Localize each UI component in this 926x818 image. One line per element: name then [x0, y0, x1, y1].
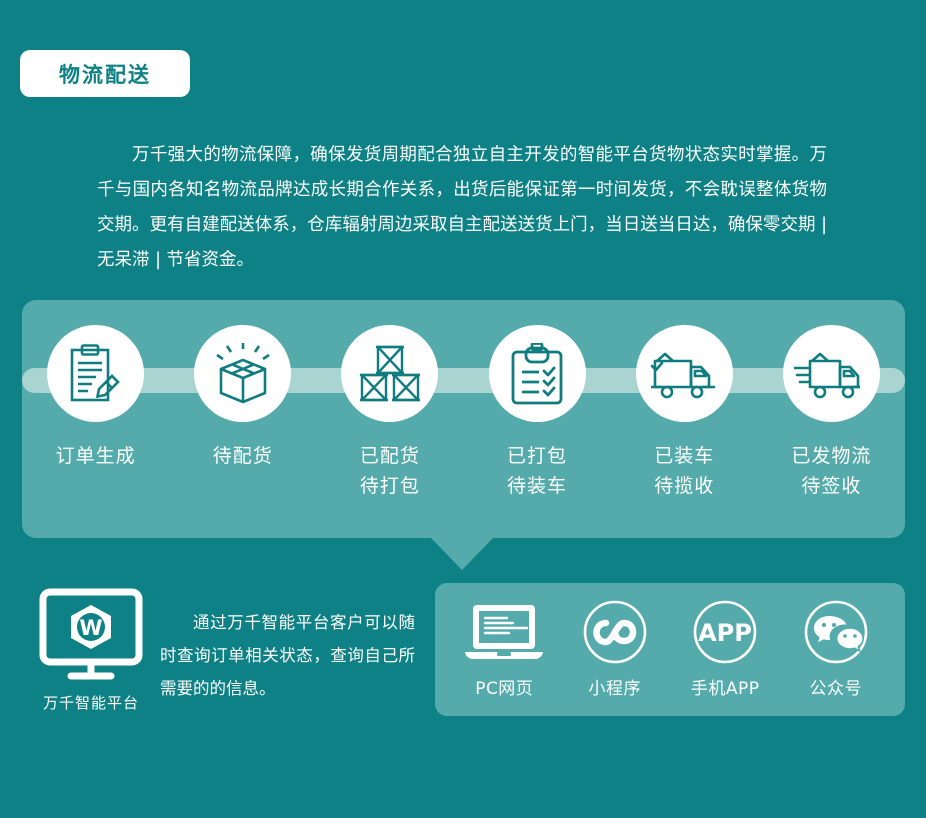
platform-label: 万千智能平台 [43, 692, 139, 713]
step-icon-circle [489, 325, 586, 422]
step-loaded-awaiting-pickup[interactable]: 已装车 待揽收 [617, 325, 752, 501]
step-shipped-awaiting-signature[interactable]: 已发物流 待签收 [764, 325, 899, 501]
channel-label: 公众号 [810, 674, 863, 699]
channel-mobile-app[interactable]: APP 手机APP [675, 600, 775, 699]
channel-miniprogram[interactable]: 小程序 [565, 600, 665, 699]
stacked-crates-icon [357, 344, 423, 404]
step-packed-awaiting-loading[interactable]: 已打包 待装车 [470, 325, 605, 501]
step-label: 待配货 [213, 441, 273, 471]
app-circle-icon: APP [692, 600, 758, 664]
intro-paragraph: 万千强大的物流保障，确保发货周期配合独立自主开发的智能平台货物状态实时掌握。万千… [97, 138, 827, 278]
wechat-icon [803, 600, 869, 664]
step-label: 已装车 待揽收 [654, 441, 714, 501]
step-icon-circle [194, 325, 291, 422]
channel-label: 手机APP [691, 674, 760, 699]
channels-panel: PC网页 小程序 APP 手机APP [435, 583, 905, 716]
laptop-icon [463, 600, 545, 664]
monitor-w-icon: W [39, 588, 143, 680]
step-allocated-awaiting-packing[interactable]: 已配货 待打包 [322, 325, 457, 501]
step-label: 已打包 待装车 [507, 441, 567, 501]
channel-pc-web[interactable]: PC网页 [454, 600, 554, 699]
down-arrow-icon [430, 537, 494, 570]
steps-list: 订单生成 待配 [22, 300, 905, 538]
step-label: 已配货 待打包 [360, 441, 420, 501]
logistics-infographic: 物流配送 万千强大的物流保障，确保发货周期配合独立自主开发的智能平台货物状态实时… [0, 0, 926, 818]
platform-block: W 万千智能平台 [36, 588, 146, 713]
step-icon-circle [341, 325, 438, 422]
page-title: 物流配送 [59, 59, 151, 89]
open-box-icon [211, 343, 275, 405]
step-label: 订单生成 [56, 441, 136, 471]
step-label: 已发物流 待签收 [791, 441, 871, 501]
truck-check-icon [649, 347, 719, 401]
step-icon-circle [636, 325, 733, 422]
channel-official-account[interactable]: 公众号 [786, 600, 886, 699]
channel-label: 小程序 [589, 674, 642, 699]
step-icon-circle [47, 325, 144, 422]
clipboard-pencil-icon [66, 343, 126, 405]
step-awaiting-allocation[interactable]: 待配货 [175, 325, 310, 471]
platform-description: 通过万千智能平台客户可以随时查询订单相关状态，查询自己所需要的的信息。 [160, 606, 415, 705]
checklist-clipboard-icon [509, 343, 565, 405]
miniprogram-icon [582, 600, 648, 664]
channel-label: PC网页 [475, 674, 533, 699]
svg-text:W: W [79, 616, 102, 640]
page-title-badge: 物流配送 [20, 50, 190, 97]
step-order-created[interactable]: 订单生成 [28, 325, 163, 471]
truck-speed-icon [794, 347, 868, 401]
svg-text:APP: APP [698, 619, 752, 647]
step-icon-circle [783, 325, 880, 422]
